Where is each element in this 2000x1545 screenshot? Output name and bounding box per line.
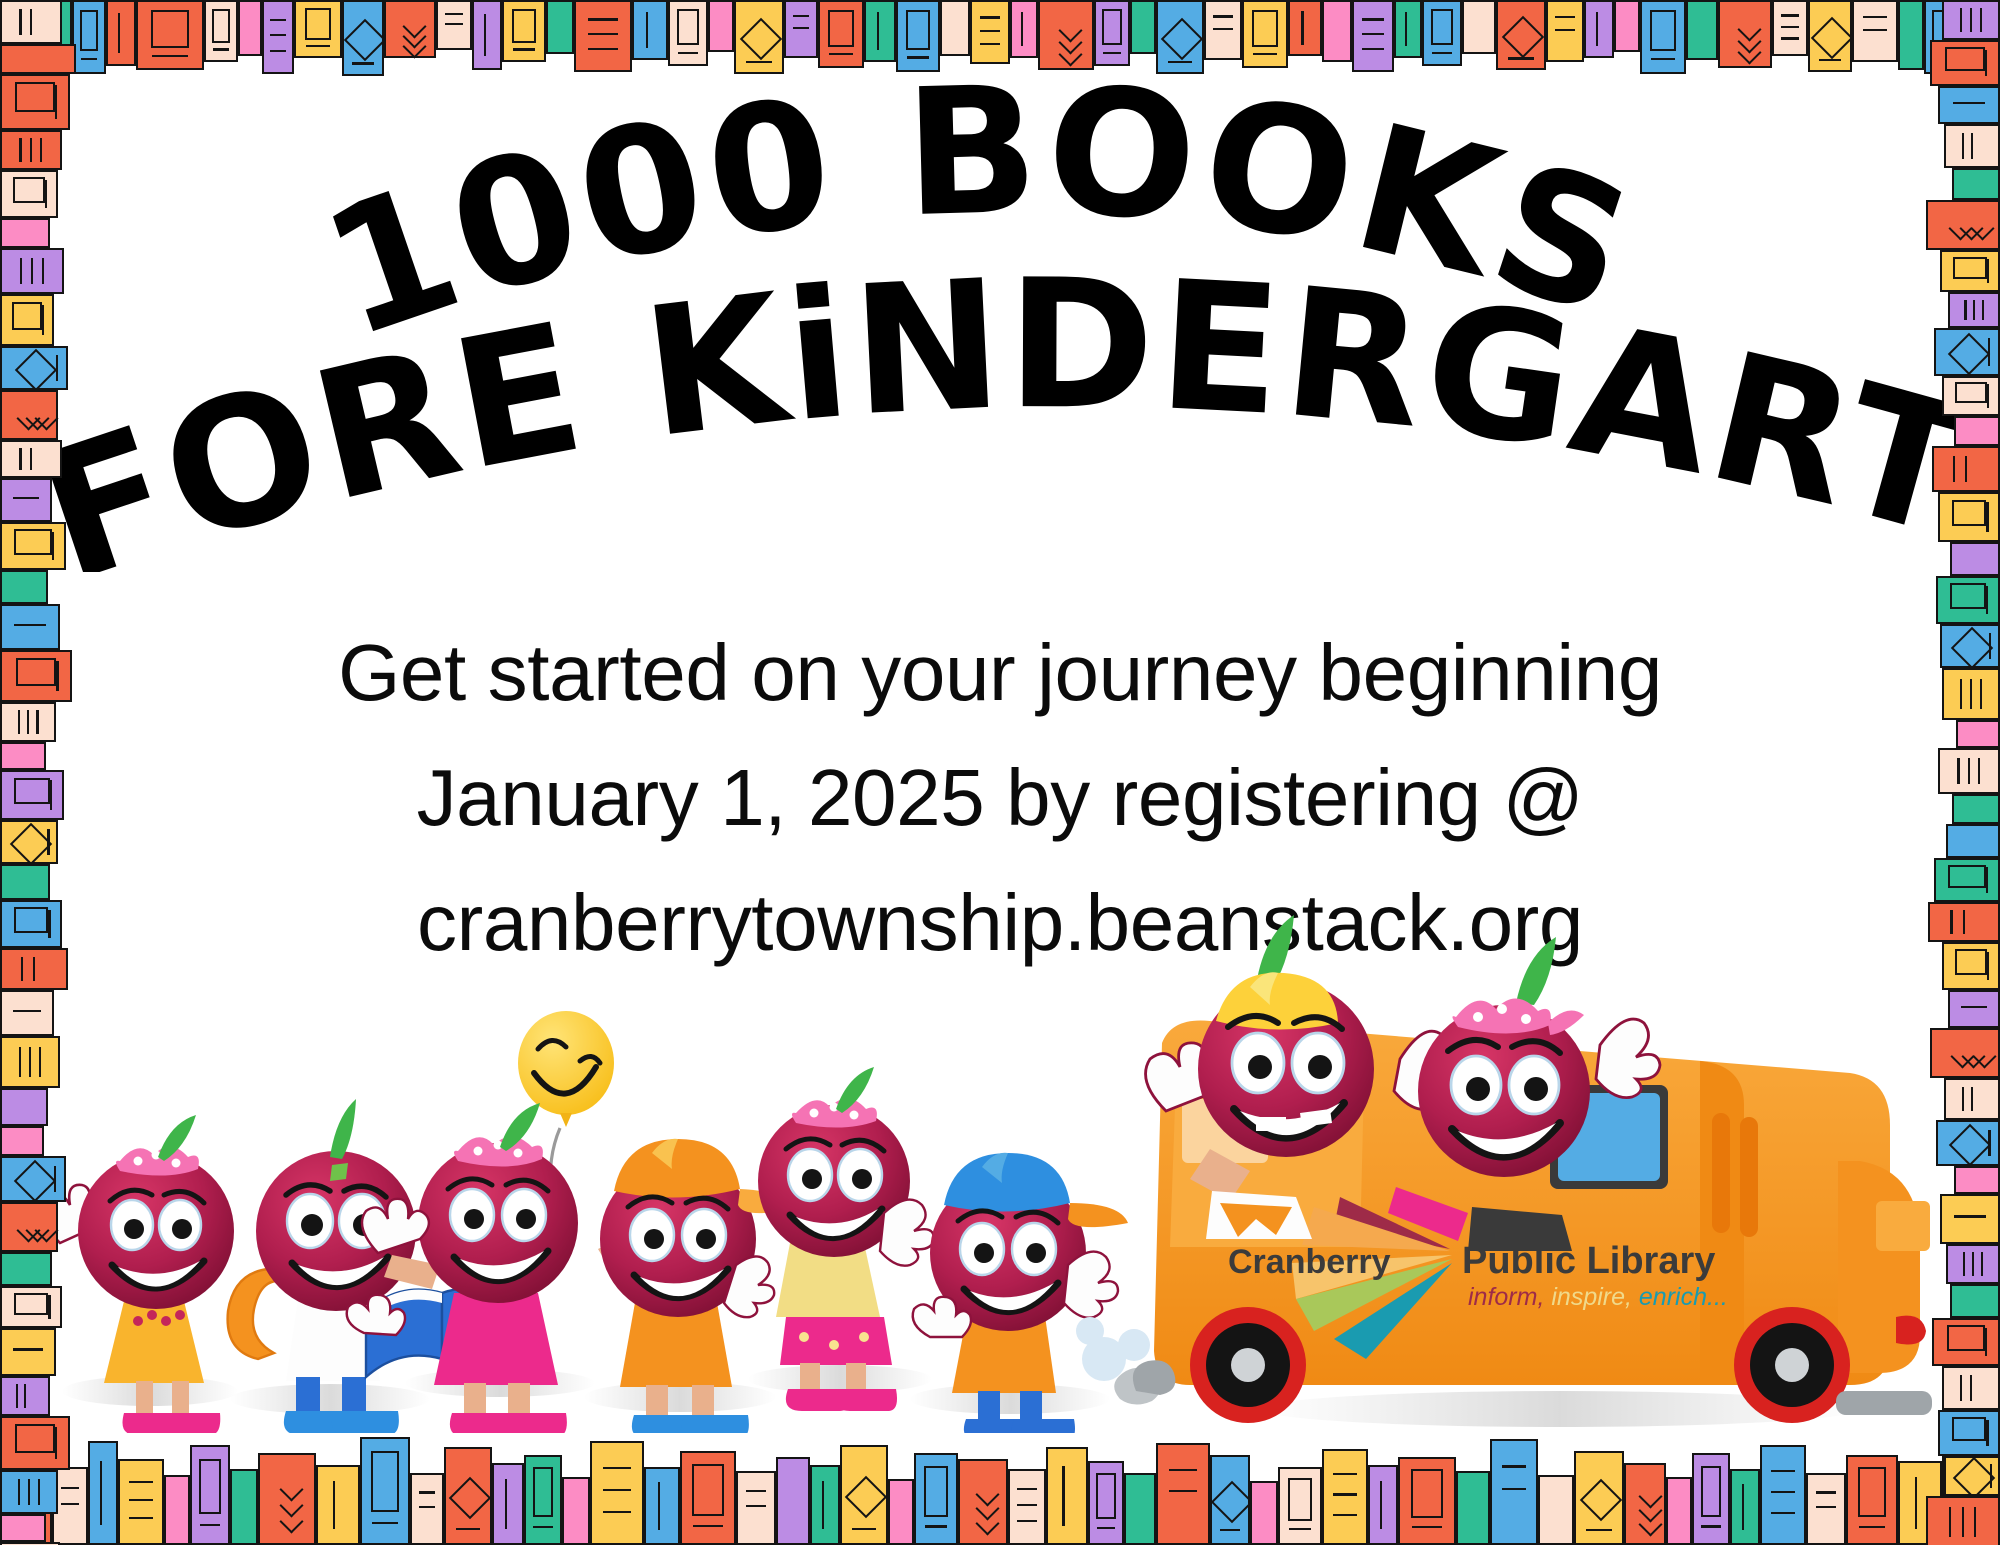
book-spine xyxy=(1394,0,1422,58)
cranberry-girl-yellow-top xyxy=(758,1067,934,1411)
book-spine xyxy=(590,1441,644,1545)
logo-tagline: inform, inspire, enrich... xyxy=(1468,1283,1728,1311)
book-spine xyxy=(1496,0,1546,70)
book-spine xyxy=(164,1475,190,1545)
border-right xyxy=(1908,0,2000,1545)
book-spine xyxy=(1730,1469,1760,1545)
book-spine xyxy=(810,1465,840,1545)
book-spine xyxy=(444,1447,492,1545)
orange-backpack xyxy=(228,1269,278,1359)
book-spine xyxy=(644,1467,680,1545)
book-spine xyxy=(888,1479,914,1545)
book-spine xyxy=(1546,0,1584,62)
book-spine xyxy=(1718,0,1772,68)
book-spine xyxy=(1088,1461,1124,1545)
pink-blossom-hairbow xyxy=(116,1115,199,1176)
book-spine xyxy=(784,0,818,58)
book-spine xyxy=(1322,1449,1368,1545)
border-top xyxy=(0,0,2000,78)
book-spine xyxy=(1584,0,1614,58)
book-spine xyxy=(1130,0,1156,54)
book-spine xyxy=(1940,624,2000,668)
book-spine xyxy=(0,248,64,294)
book-spine xyxy=(1936,1120,2000,1166)
book-spine xyxy=(0,1376,50,1416)
book-spine xyxy=(1946,824,2000,858)
book-spine xyxy=(0,604,60,650)
book-spine xyxy=(1456,1471,1490,1545)
pink-blossom-hairbow xyxy=(1452,998,1584,1035)
book-spine xyxy=(0,1088,48,1126)
book-spine xyxy=(1490,1439,1538,1545)
book-spine xyxy=(238,0,262,56)
book-spine xyxy=(1952,794,2000,824)
book-spine xyxy=(294,0,342,58)
book-spine xyxy=(1760,1445,1806,1545)
book-spine xyxy=(864,0,896,62)
book-spine xyxy=(1938,748,2000,794)
book-spine xyxy=(0,218,50,248)
book-spine xyxy=(0,900,62,948)
book-spine xyxy=(1462,0,1496,54)
book-spine xyxy=(0,650,72,702)
book-spine xyxy=(1926,1496,2000,1545)
book-spine xyxy=(0,1156,66,1202)
book-spine xyxy=(0,948,68,990)
book-spine xyxy=(1846,1455,1898,1545)
book-spine xyxy=(0,1514,46,1542)
book-spine xyxy=(680,1451,736,1545)
book-spine xyxy=(0,346,68,390)
book-spine xyxy=(970,0,1010,64)
book-spine xyxy=(1156,0,1204,74)
poster-title: 1000 BOOKS BEFORE KiNDERGARTEN xyxy=(0,52,2000,572)
book-spine xyxy=(0,130,62,170)
book-spine xyxy=(1944,1078,2000,1120)
book-spine xyxy=(1666,1477,1692,1545)
book-spine xyxy=(1038,0,1094,70)
book-spine xyxy=(492,1463,524,1545)
book-spine xyxy=(0,0,62,44)
book-spine xyxy=(0,1328,56,1376)
border-bottom xyxy=(0,1427,2000,1545)
border-left xyxy=(0,0,86,1545)
book-spine xyxy=(1936,576,2000,624)
illustration-group: Cranberry Public Library inform, inspire… xyxy=(0,913,2000,1433)
book-spine xyxy=(1928,902,2000,942)
book-spine xyxy=(574,0,632,72)
book-spine xyxy=(840,1445,888,1545)
book-spine xyxy=(1942,0,2000,40)
book-spine xyxy=(1852,0,1898,62)
pink-blossom-hairbow xyxy=(792,1067,877,1128)
book-spine xyxy=(0,742,46,770)
book-spine xyxy=(1692,1453,1730,1545)
book-spine xyxy=(1942,376,2000,416)
book-spine xyxy=(472,0,502,70)
book-spine xyxy=(502,0,546,62)
book-spine xyxy=(1624,1463,1666,1545)
book-spine xyxy=(190,1445,230,1545)
book-spine xyxy=(1942,942,2000,990)
book-spine xyxy=(436,0,472,50)
book-spine xyxy=(106,0,136,66)
book-spine xyxy=(1932,446,2000,492)
book-spine xyxy=(1398,1457,1456,1545)
book-spine xyxy=(1934,328,2000,376)
book-spine xyxy=(1124,1473,1156,1545)
book-spine xyxy=(384,0,436,58)
body-line-2: January 1, 2025 by registering @ xyxy=(160,735,1840,860)
book-spine xyxy=(262,0,294,74)
book-spine xyxy=(0,294,54,346)
book-spine xyxy=(1156,1443,1210,1545)
book-spine xyxy=(1938,86,2000,124)
book-spine xyxy=(1772,0,1808,56)
book-spine xyxy=(1250,1481,1278,1545)
book-spine xyxy=(1938,492,2000,542)
book-spine xyxy=(204,0,238,62)
book-spine xyxy=(0,702,56,742)
book-spine xyxy=(0,1036,60,1088)
book-spine xyxy=(1954,416,2000,446)
book-spine xyxy=(0,864,50,900)
book-spine xyxy=(1956,720,2000,748)
book-spine xyxy=(914,1453,958,1545)
book-spine xyxy=(118,1459,164,1545)
book-spine xyxy=(0,820,58,864)
book-spine xyxy=(1640,0,1686,74)
book-spine xyxy=(1952,168,2000,200)
book-spine xyxy=(958,1459,1008,1545)
body-line-1: Get started on your journey beginning xyxy=(160,610,1840,735)
book-spine xyxy=(342,0,384,76)
book-spine xyxy=(1278,1467,1322,1545)
book-spine xyxy=(0,440,62,478)
book-spine xyxy=(1352,0,1394,72)
book-spine xyxy=(0,390,58,440)
book-spine xyxy=(896,0,940,72)
book-spine xyxy=(0,1126,44,1156)
book-spine xyxy=(708,0,734,52)
book-spine xyxy=(0,1416,70,1470)
book-spine xyxy=(1944,1456,2000,1496)
book-spine xyxy=(0,1286,62,1328)
book-spine xyxy=(524,1455,562,1545)
book-spine xyxy=(1008,1469,1046,1545)
book-spine xyxy=(1954,1166,2000,1194)
book-spine xyxy=(1288,0,1322,56)
book-spine xyxy=(818,0,864,68)
book-spine xyxy=(1210,1455,1250,1545)
book-spine xyxy=(1046,1447,1088,1545)
book-spine xyxy=(1242,0,1288,68)
book-spine xyxy=(0,522,66,570)
book-spine xyxy=(1946,1244,2000,1284)
book-spine xyxy=(546,0,574,54)
book-spine xyxy=(1538,1475,1574,1545)
book-spine xyxy=(668,0,708,66)
book-spine xyxy=(0,990,54,1036)
book-spine xyxy=(136,0,204,70)
book-spine xyxy=(1926,200,2000,250)
book-spine xyxy=(1422,0,1462,66)
book-spine xyxy=(1938,1410,2000,1456)
book-spine xyxy=(1574,1451,1624,1545)
book-spine xyxy=(0,478,52,522)
book-spine xyxy=(1614,0,1640,52)
book-spine xyxy=(0,44,76,74)
book-spine xyxy=(1930,1028,2000,1078)
book-spine xyxy=(1010,0,1038,58)
book-spine xyxy=(562,1477,590,1545)
book-spine xyxy=(1950,542,2000,576)
book-spine xyxy=(632,0,668,60)
logo-cranberry: Cranberry xyxy=(1228,1243,1391,1281)
book-spine xyxy=(88,1441,118,1545)
book-spine xyxy=(940,0,970,56)
book-spine xyxy=(410,1473,444,1545)
book-spine xyxy=(1094,0,1130,66)
book-spine xyxy=(0,1252,52,1286)
book-spine xyxy=(1948,292,2000,328)
book-spine xyxy=(1940,1194,2000,1244)
book-spine xyxy=(1322,0,1352,62)
book-spine xyxy=(1932,1318,2000,1366)
book-spine xyxy=(230,1469,258,1545)
book-spine xyxy=(1808,0,1852,72)
book-spine xyxy=(1940,250,2000,292)
book-spine xyxy=(1368,1465,1398,1545)
book-spine xyxy=(1806,1473,1846,1545)
book-spine xyxy=(316,1465,360,1545)
book-spine xyxy=(1204,0,1242,60)
book-spine xyxy=(360,1437,410,1545)
book-spine xyxy=(736,1471,776,1545)
book-spine xyxy=(0,170,58,218)
book-spine xyxy=(0,1470,58,1514)
book-spine xyxy=(0,770,64,820)
book-spine xyxy=(734,0,784,74)
poster-canvas: 1000 BOOKS BEFORE KiNDERGARTEN Get start… xyxy=(0,0,2000,1545)
book-spine xyxy=(776,1457,810,1545)
book-spine xyxy=(1686,0,1718,60)
book-spine xyxy=(0,1202,58,1252)
book-spine xyxy=(1934,858,2000,902)
book-spine xyxy=(1942,668,2000,720)
book-spine xyxy=(1944,124,2000,168)
book-spine xyxy=(1950,1284,2000,1318)
book-spine xyxy=(0,74,70,130)
book-spine xyxy=(1948,990,2000,1028)
book-spine xyxy=(1942,1366,2000,1410)
book-spine xyxy=(0,570,48,604)
pink-blossom-hairbow xyxy=(454,1103,543,1167)
book-spine xyxy=(1930,40,2000,86)
book-spine xyxy=(258,1453,316,1545)
